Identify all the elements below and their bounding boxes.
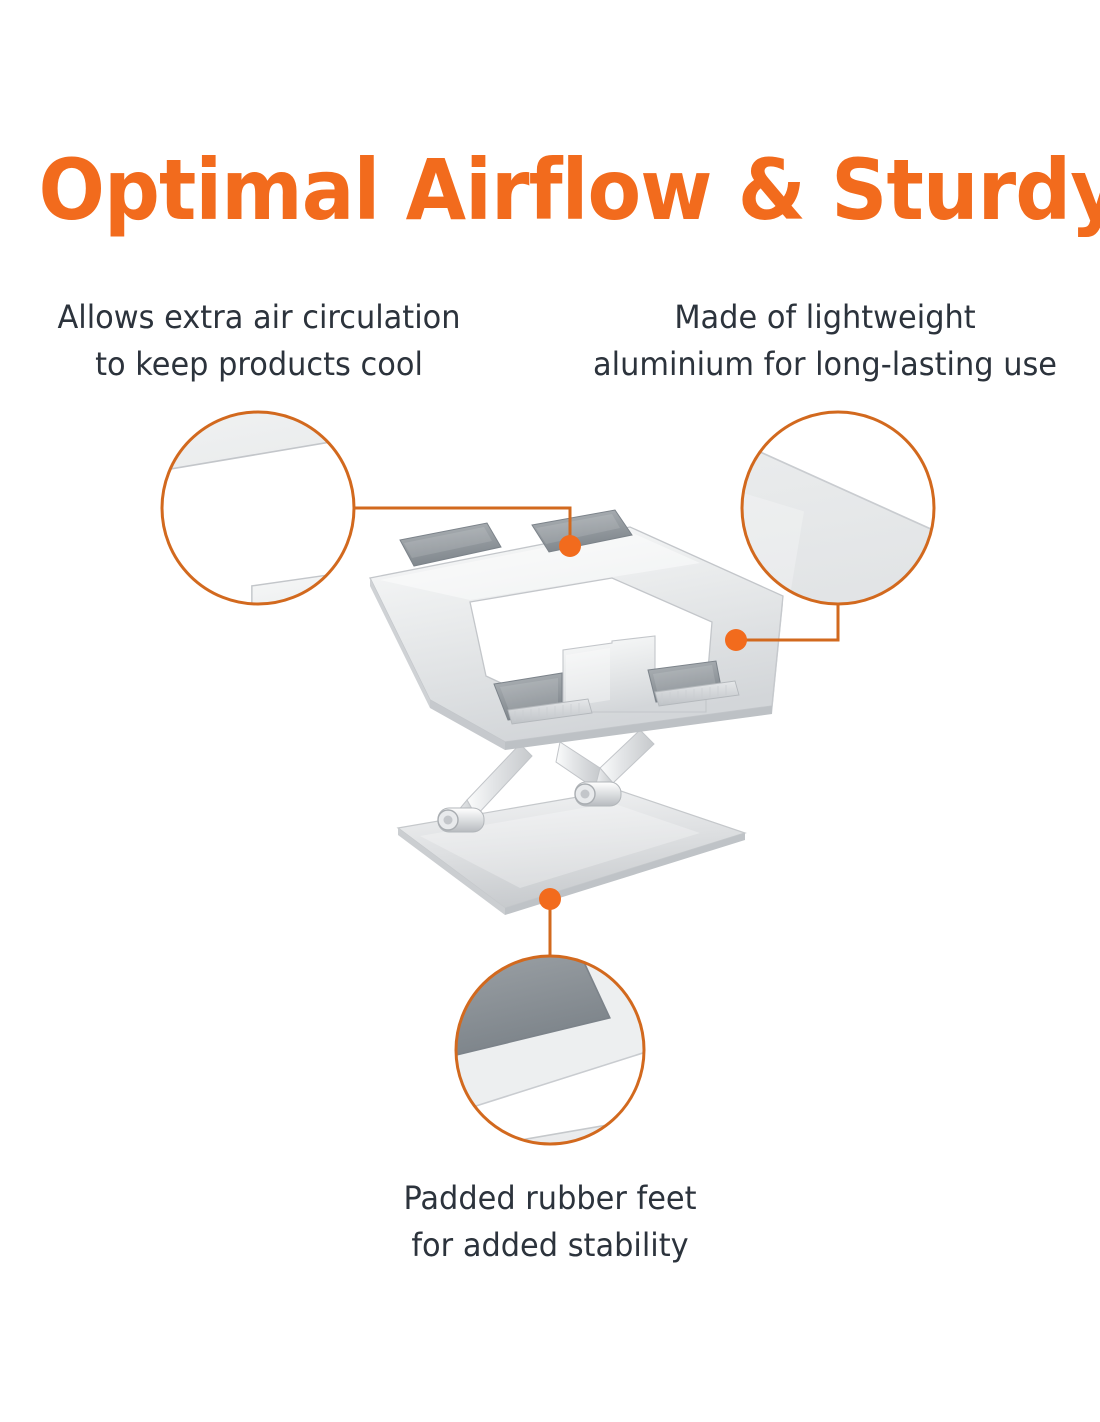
callout-ring-airflow — [162, 412, 354, 604]
front-stopper-right — [655, 681, 739, 706]
caption-aluminium-line2: aluminium for long-lasting use — [573, 341, 1077, 388]
caption-airflow-line2: to keep products cool — [30, 341, 488, 388]
support-legs — [438, 707, 654, 832]
caption-aluminium: Made of lightweight aluminium for long-l… — [573, 294, 1077, 388]
hinge-right — [575, 782, 621, 806]
rubber-pad-upper-right — [532, 510, 632, 552]
rubber-pad-lower-left — [494, 673, 562, 720]
caption-airflow: Allows extra air circulation to keep pro… — [30, 294, 488, 388]
page-title: Optimal Airflow & Sturdy — [39, 142, 1062, 238]
leader-dot-airflow — [559, 535, 581, 557]
base-plate — [398, 790, 745, 915]
laptop-stand-main — [370, 510, 783, 915]
leader-line-rubber-feet — [539, 888, 561, 956]
callout-aluminium-surface — [0, 311, 967, 1069]
leader-dot-aluminium — [725, 629, 747, 651]
leader-dot-rubber-feet — [539, 888, 561, 910]
caption-airflow-line1: Allows extra air circulation — [30, 294, 488, 341]
caption-aluminium-line1: Made of lightweight — [573, 294, 1077, 341]
callout-airflow-cutout — [0, 299, 703, 959]
callout-rubber-feet — [269, 760, 1067, 1367]
caption-rubber-feet-line2: for added stability — [298, 1222, 802, 1269]
caption-rubber-feet-line1: Padded rubber feet — [298, 1175, 802, 1222]
rubber-pad-lower-right — [648, 661, 722, 702]
front-stopper-left — [508, 699, 592, 724]
callout-ring-aluminium — [742, 412, 934, 604]
infographic-page: Optimal Airflow & Sturdy Allows extra ai… — [0, 0, 1100, 1422]
hinge-left — [438, 808, 484, 832]
leader-line-airflow — [354, 508, 581, 557]
caption-rubber-feet: Padded rubber feet for added stability — [298, 1175, 802, 1269]
leader-line-aluminium — [725, 604, 838, 651]
top-support-plate — [370, 510, 783, 750]
rubber-pad-upper-left — [400, 523, 501, 566]
callout-ring-rubber-feet — [456, 956, 644, 1144]
